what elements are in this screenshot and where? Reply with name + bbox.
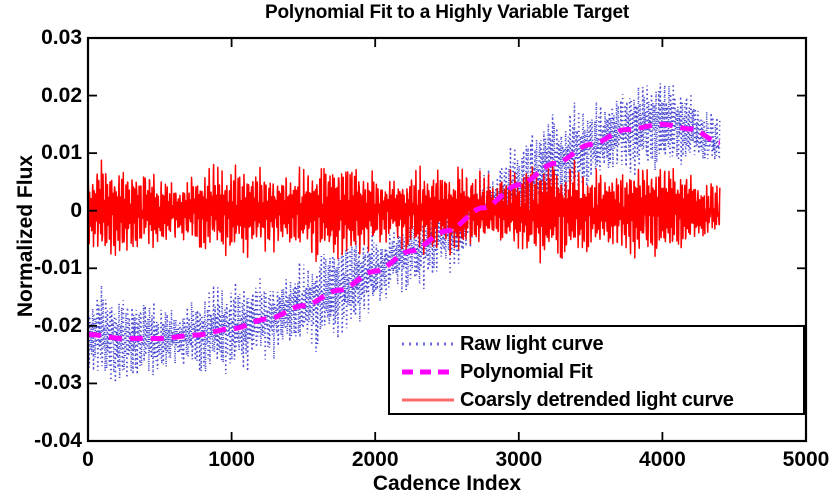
legend-item-fit: Polynomial Fit <box>390 357 803 387</box>
legend-label-detrended: Coarsly detrended light curve <box>460 389 734 412</box>
legend-label-fit: Polynomial Fit <box>460 361 592 384</box>
chart-figure: Polynomial Fit to a Highly Variable Targ… <box>0 0 830 499</box>
chart-legend: Raw light curve Polynomial Fit Coarsly d… <box>388 325 805 415</box>
legend-dashed-line-icon <box>400 361 456 383</box>
legend-item-detrended: Coarsly detrended light curve <box>390 385 803 415</box>
legend-label-raw: Raw light curve <box>460 333 603 356</box>
legend-solid-line-icon <box>400 389 456 411</box>
legend-item-raw: Raw light curve <box>390 329 803 359</box>
series-detrended-light-curve <box>88 160 720 263</box>
plot-area <box>0 0 830 499</box>
legend-dotted-line-icon <box>400 333 456 355</box>
